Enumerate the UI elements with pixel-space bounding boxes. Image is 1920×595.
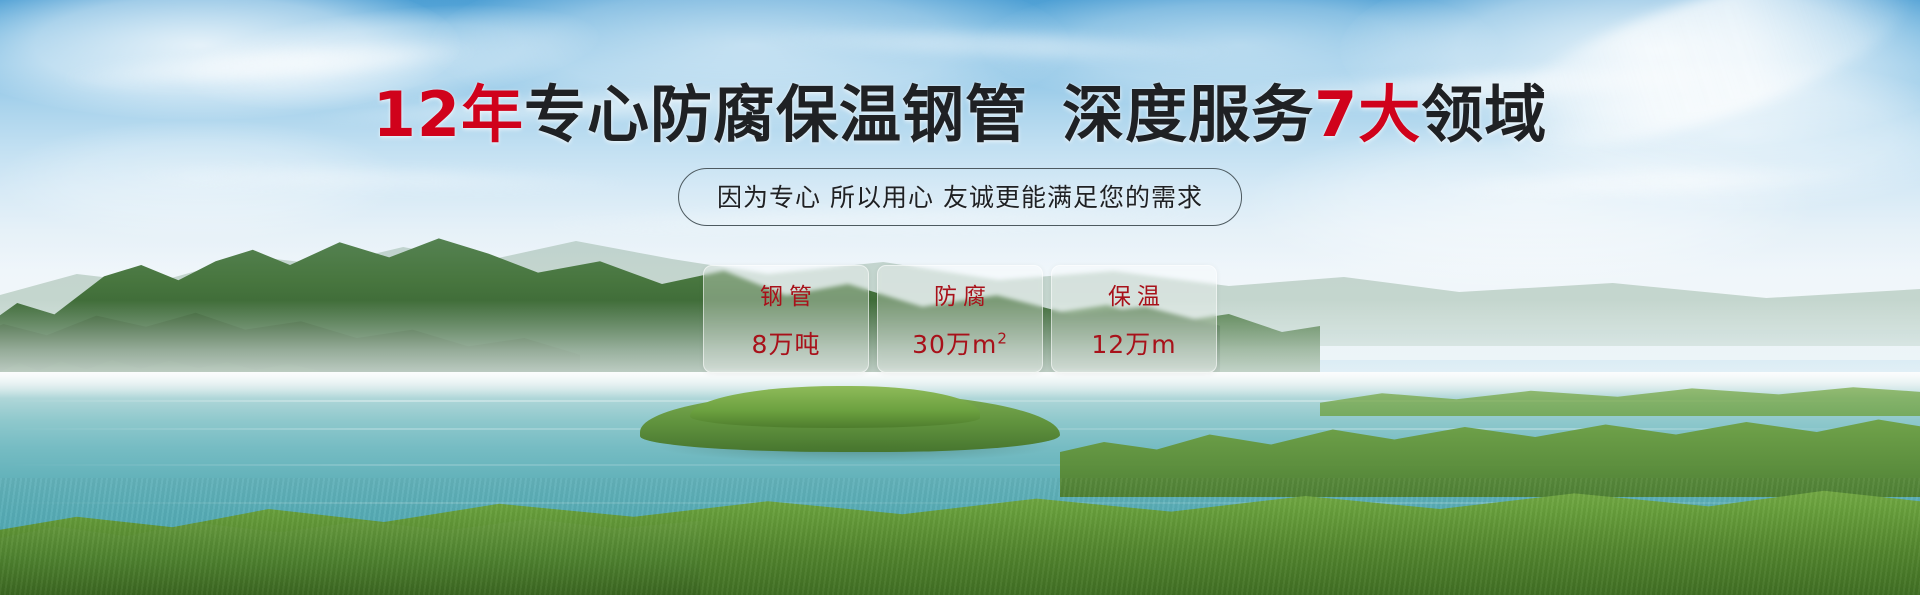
stat-card-title: 保温	[1102, 277, 1166, 311]
stat-value-main: 8万吨	[752, 330, 821, 359]
stat-card-title: 钢管	[754, 277, 818, 311]
headline-years-number: 12	[373, 78, 461, 151]
stat-card-value: 12万m	[1091, 325, 1176, 361]
stat-card-steel-pipe[interactable]: 钢管 8万吨	[703, 265, 869, 373]
stat-card-insulation[interactable]: 保温 12万m	[1051, 265, 1217, 373]
headline-fields-unit: 大	[1358, 78, 1421, 151]
stat-card-value: 8万吨	[752, 325, 821, 361]
stat-card-anticorrosion[interactable]: 防腐 30万m2	[877, 265, 1043, 373]
headline-fields-number: 7	[1314, 78, 1358, 151]
stat-card-title: 防腐	[928, 277, 992, 311]
banner-content: 12年专心防腐保温钢管深度服务7大领域 因为专心 所以用心 友诚更能满足您的需求…	[0, 0, 1920, 595]
stat-value-main: 30万m	[912, 330, 997, 359]
headline-years-unit: 年	[461, 78, 524, 151]
stat-card-value: 30万m2	[912, 325, 1008, 361]
stat-value-main: 12万m	[1091, 330, 1176, 359]
subtitle-pill: 因为专心 所以用心 友诚更能满足您的需求	[678, 168, 1242, 226]
headline-main-text: 专心防腐保温钢管	[524, 78, 1028, 151]
hero-banner: 12年专心防腐保温钢管深度服务7大领域 因为专心 所以用心 友诚更能满足您的需求…	[0, 0, 1920, 595]
stats-card-group: 钢管 8万吨 防腐 30万m2 保温 12万m	[703, 265, 1217, 373]
headline-fields-text: 领域	[1421, 78, 1547, 151]
headline-service-text: 深度服务	[1062, 78, 1314, 151]
stat-value-superscript: 2	[997, 330, 1008, 348]
headline: 12年专心防腐保温钢管深度服务7大领域	[0, 84, 1920, 146]
